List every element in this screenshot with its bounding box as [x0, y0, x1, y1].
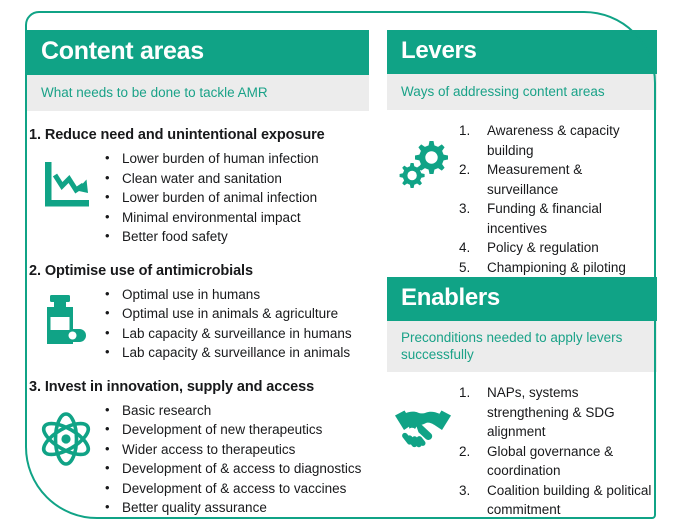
content-section-3: 3. Invest in innovation, supply and acce… [27, 379, 369, 518]
levers-header: Levers [387, 30, 657, 74]
medicine-bottle-icon [27, 285, 105, 349]
list-item: 2.Global governance & coordination [459, 442, 657, 481]
content-section-2-body: Optimal use in humans Optimal use in ani… [27, 285, 369, 363]
list-item-text: Global governance & coordination [487, 444, 613, 479]
content-areas-panel: Content areas What needs to be done to t… [27, 30, 369, 518]
content-section-1-body: Lower burden of human infection Clean wa… [27, 149, 369, 247]
content-section-3-bullets: Basic research Development of new therap… [105, 401, 369, 518]
bullet-item: Better quality assurance [105, 498, 369, 518]
bullet-item: Lab capacity & surveillance in humans [105, 324, 369, 344]
list-item-number: 4. [459, 238, 479, 258]
list-item: 4.Policy & regulation [459, 238, 657, 258]
content-section-3-title: 3. Invest in innovation, supply and acce… [27, 379, 369, 395]
list-item-number: 2. [459, 442, 479, 462]
levers-subtitle: Ways of addressing content areas [387, 74, 657, 110]
levers-body: 1.Awareness & capacity building 2.Measur… [387, 121, 657, 277]
bullet-item: Lower burden of human infection [105, 149, 369, 169]
gears-icon [387, 121, 459, 191]
list-item-text: Coalition building & political commitmen… [487, 483, 651, 518]
list-item: 3.Funding & financial incentives [459, 199, 657, 238]
enablers-header: Enablers [387, 277, 657, 321]
list-item-number: 1. [459, 383, 479, 403]
content-section-2: 2. Optimise use of antimicrobials Optima… [27, 263, 369, 363]
content-areas-subtitle: What needs to be done to tackle AMR [27, 75, 369, 111]
bullet-item: Wider access to therapeutics [105, 440, 369, 460]
bullet-item: Lower burden of animal infection [105, 188, 369, 208]
levers-list: 1.Awareness & capacity building 2.Measur… [459, 121, 657, 277]
list-item-number: 5. [459, 258, 479, 278]
enablers-panel: Enablers Preconditions needed to apply l… [387, 277, 657, 520]
declining-chart-icon [27, 149, 105, 211]
list-item-number: 1. [459, 121, 479, 141]
amr-framework-infographic: Content areas What needs to be done to t… [0, 0, 679, 532]
bullet-item: Development of & access to vaccines [105, 479, 369, 499]
list-item-text: Awareness & capacity building [487, 123, 620, 158]
bullet-item: Basic research [105, 401, 369, 421]
list-item-number: 2. [459, 160, 479, 180]
handshake-icon [387, 383, 459, 449]
list-item: 1.NAPs, systems strengthening & SDG alig… [459, 383, 657, 442]
enablers-body: 1.NAPs, systems strengthening & SDG alig… [387, 383, 657, 520]
list-item-text: Funding & financial incentives [487, 201, 602, 236]
bullet-item: Development of new therapeutics [105, 420, 369, 440]
list-item: 2.Measurement & surveillance [459, 160, 657, 199]
content-section-3-body: Basic research Development of new therap… [27, 401, 369, 518]
content-section-2-bullets: Optimal use in humans Optimal use in ani… [105, 285, 369, 363]
list-item: 5.Championing & piloting [459, 258, 657, 278]
enablers-list: 1.NAPs, systems strengthening & SDG alig… [459, 383, 657, 520]
enablers-subtitle: Preconditions needed to apply levers suc… [387, 321, 657, 372]
bullet-item: Minimal environmental impact [105, 208, 369, 228]
content-section-1: 1. Reduce need and unintentional exposur… [27, 127, 369, 247]
list-item-text: Championing & piloting [487, 260, 626, 275]
bullet-item: Development of & access to diagnostics [105, 459, 369, 479]
bullet-item: Better food safety [105, 227, 369, 247]
list-item-number: 3. [459, 481, 479, 501]
levers-panel: Levers Ways of addressing content areas … [387, 30, 657, 277]
list-item: 1.Awareness & capacity building [459, 121, 657, 160]
list-item-text: NAPs, systems strengthening & SDG alignm… [487, 385, 615, 439]
atom-icon [27, 401, 105, 467]
bullet-item: Optimal use in animals & agriculture [105, 304, 369, 324]
list-item: 3.Coalition building & political commitm… [459, 481, 657, 520]
list-item-text: Policy & regulation [487, 240, 599, 255]
content-section-1-bullets: Lower burden of human infection Clean wa… [105, 149, 369, 247]
bullet-item: Lab capacity & surveillance in animals [105, 343, 369, 363]
list-item-number: 3. [459, 199, 479, 219]
content-section-2-title: 2. Optimise use of antimicrobials [27, 263, 369, 279]
content-section-1-title: 1. Reduce need and unintentional exposur… [27, 127, 369, 143]
bullet-item: Optimal use in humans [105, 285, 369, 305]
bullet-item: Clean water and sanitation [105, 169, 369, 189]
content-areas-header: Content areas [27, 30, 369, 75]
list-item-text: Measurement & surveillance [487, 162, 582, 197]
